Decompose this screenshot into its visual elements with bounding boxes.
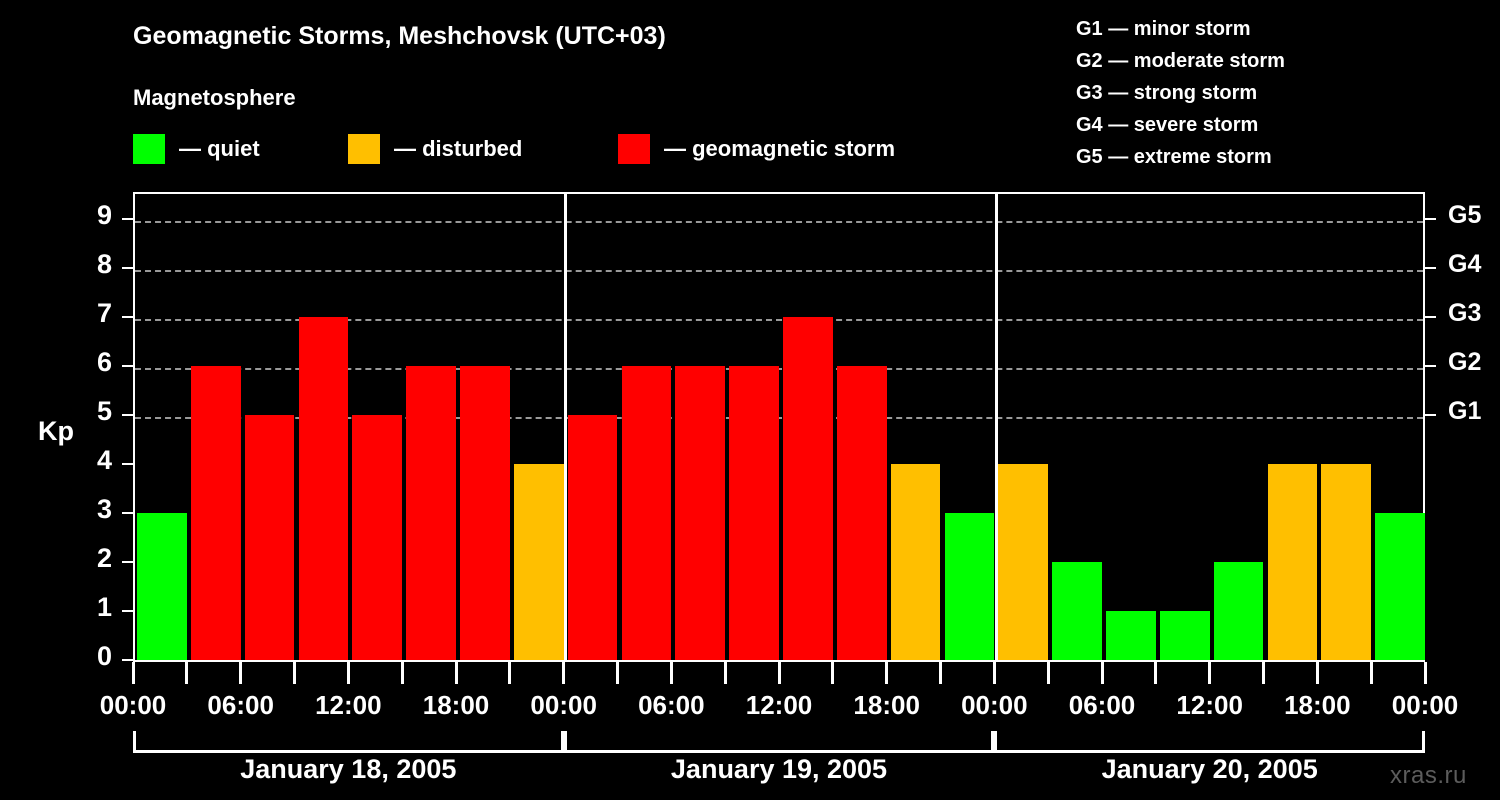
- x-tick-label: 12:00: [1176, 690, 1243, 721]
- y-tick-mark: [122, 659, 133, 661]
- x-tick-mark: [1154, 662, 1157, 684]
- x-tick-mark: [1424, 662, 1427, 684]
- x-tick-label: 00:00: [530, 690, 597, 721]
- x-tick-mark: [993, 662, 996, 684]
- x-tick-mark: [132, 662, 135, 684]
- y-tick-label-9: 9: [72, 200, 112, 231]
- x-tick-label: 06:00: [207, 690, 274, 721]
- legend-item-disturbed: — disturbed: [348, 133, 522, 165]
- x-tick-mark: [670, 662, 673, 684]
- g-axis-label-G5: G5: [1448, 201, 1481, 230]
- g-axis-label-G2: G2: [1448, 348, 1481, 377]
- x-tick-label: 00:00: [1392, 690, 1459, 721]
- g-tick-mark: [1425, 218, 1436, 220]
- y-tick-mark: [122, 512, 133, 514]
- g-tick-mark: [1425, 365, 1436, 367]
- y-tick-label-6: 6: [72, 347, 112, 378]
- date-label: January 19, 2005: [671, 754, 887, 785]
- y-tick-label-0: 0: [72, 641, 112, 672]
- x-tick-mark: [1208, 662, 1211, 684]
- x-tick-mark: [939, 662, 942, 684]
- green-square-swatch: [133, 134, 165, 164]
- x-tick-mark: [778, 662, 781, 684]
- g-tick-mark: [1425, 414, 1436, 416]
- x-tick-label: 00:00: [100, 690, 167, 721]
- x-tick-label: 12:00: [315, 690, 382, 721]
- x-tick-mark: [885, 662, 888, 684]
- x-tick-mark: [831, 662, 834, 684]
- date-bracket: [994, 731, 1425, 753]
- y-tick-label-1: 1: [72, 592, 112, 623]
- x-tick-mark: [1370, 662, 1373, 684]
- g-tick-mark: [1425, 267, 1436, 269]
- page-title: Geomagnetic Storms, Meshchovsk (UTC+03): [133, 22, 666, 51]
- day-separators: [135, 194, 1423, 660]
- y-tick-mark: [122, 267, 133, 269]
- x-tick-mark: [1047, 662, 1050, 684]
- x-tick-mark: [1262, 662, 1265, 684]
- y-tick-mark: [122, 316, 133, 318]
- y-tick-label-7: 7: [72, 298, 112, 329]
- x-tick-mark: [185, 662, 188, 684]
- x-tick-label: 18:00: [1284, 690, 1351, 721]
- legend-heading: Magnetosphere: [133, 85, 296, 111]
- date-bracket: [564, 731, 995, 753]
- x-tick-mark: [562, 662, 565, 684]
- x-tick-mark: [239, 662, 242, 684]
- x-tick-mark: [401, 662, 404, 684]
- g-scale-line-2: G2 — moderate storm: [1076, 45, 1285, 77]
- day-separator: [564, 194, 567, 660]
- x-tick-label: 00:00: [961, 690, 1028, 721]
- x-tick-mark: [455, 662, 458, 684]
- g-axis-label-G4: G4: [1448, 250, 1481, 279]
- g-scale-legend: G1 — minor stormG2 — moderate stormG3 — …: [1076, 13, 1285, 173]
- y-tick-mark: [122, 610, 133, 612]
- x-tick-label: 06:00: [638, 690, 705, 721]
- y-axis-title: Kp: [38, 416, 74, 447]
- legend-item-geomagneticstorm: — geomagnetic storm: [618, 133, 895, 165]
- y-tick-label-3: 3: [72, 494, 112, 525]
- legend-item-label: — disturbed: [394, 136, 522, 162]
- y-tick-mark: [122, 218, 133, 220]
- date-bracket: [133, 731, 564, 753]
- g-scale-line-4: G4 — severe storm: [1076, 109, 1285, 141]
- g-scale-line-5: G5 — extreme storm: [1076, 141, 1285, 173]
- legend-item-label: — quiet: [179, 136, 260, 162]
- x-tick-label: 18:00: [853, 690, 920, 721]
- plot-area: [133, 192, 1425, 662]
- x-tick-mark: [1316, 662, 1319, 684]
- y-tick-mark: [122, 365, 133, 367]
- g-scale-line-3: G3 — strong storm: [1076, 77, 1285, 109]
- x-tick-mark: [616, 662, 619, 684]
- x-tick-label: 18:00: [423, 690, 490, 721]
- x-tick-mark: [347, 662, 350, 684]
- y-tick-label-2: 2: [72, 543, 112, 574]
- orange-square-swatch: [348, 134, 380, 164]
- y-tick-label-8: 8: [72, 249, 112, 280]
- x-tick-label: 12:00: [746, 690, 813, 721]
- g-axis-label-G1: G1: [1448, 397, 1481, 426]
- y-tick-mark: [122, 463, 133, 465]
- x-tick-mark: [1101, 662, 1104, 684]
- y-tick-label-5: 5: [72, 396, 112, 427]
- date-label: January 18, 2005: [240, 754, 456, 785]
- g-axis-label-G3: G3: [1448, 299, 1481, 328]
- x-tick-mark: [293, 662, 296, 684]
- g-tick-mark: [1425, 316, 1436, 318]
- y-tick-mark: [122, 414, 133, 416]
- geomagnetic-storm-chart: Geomagnetic Storms, Meshchovsk (UTC+03) …: [0, 0, 1500, 800]
- day-separator: [995, 194, 998, 660]
- y-tick-mark: [122, 561, 133, 563]
- legend-item-quiet: — quiet: [133, 133, 260, 165]
- watermark: xras.ru: [1390, 762, 1467, 790]
- legend-item-label: — geomagnetic storm: [664, 136, 895, 162]
- x-tick-mark: [508, 662, 511, 684]
- y-tick-label-4: 4: [72, 445, 112, 476]
- red-square-swatch: [618, 134, 650, 164]
- x-tick-label: 06:00: [1069, 690, 1136, 721]
- x-tick-mark: [724, 662, 727, 684]
- date-label: January 20, 2005: [1102, 754, 1318, 785]
- g-scale-line-1: G1 — minor storm: [1076, 13, 1285, 45]
